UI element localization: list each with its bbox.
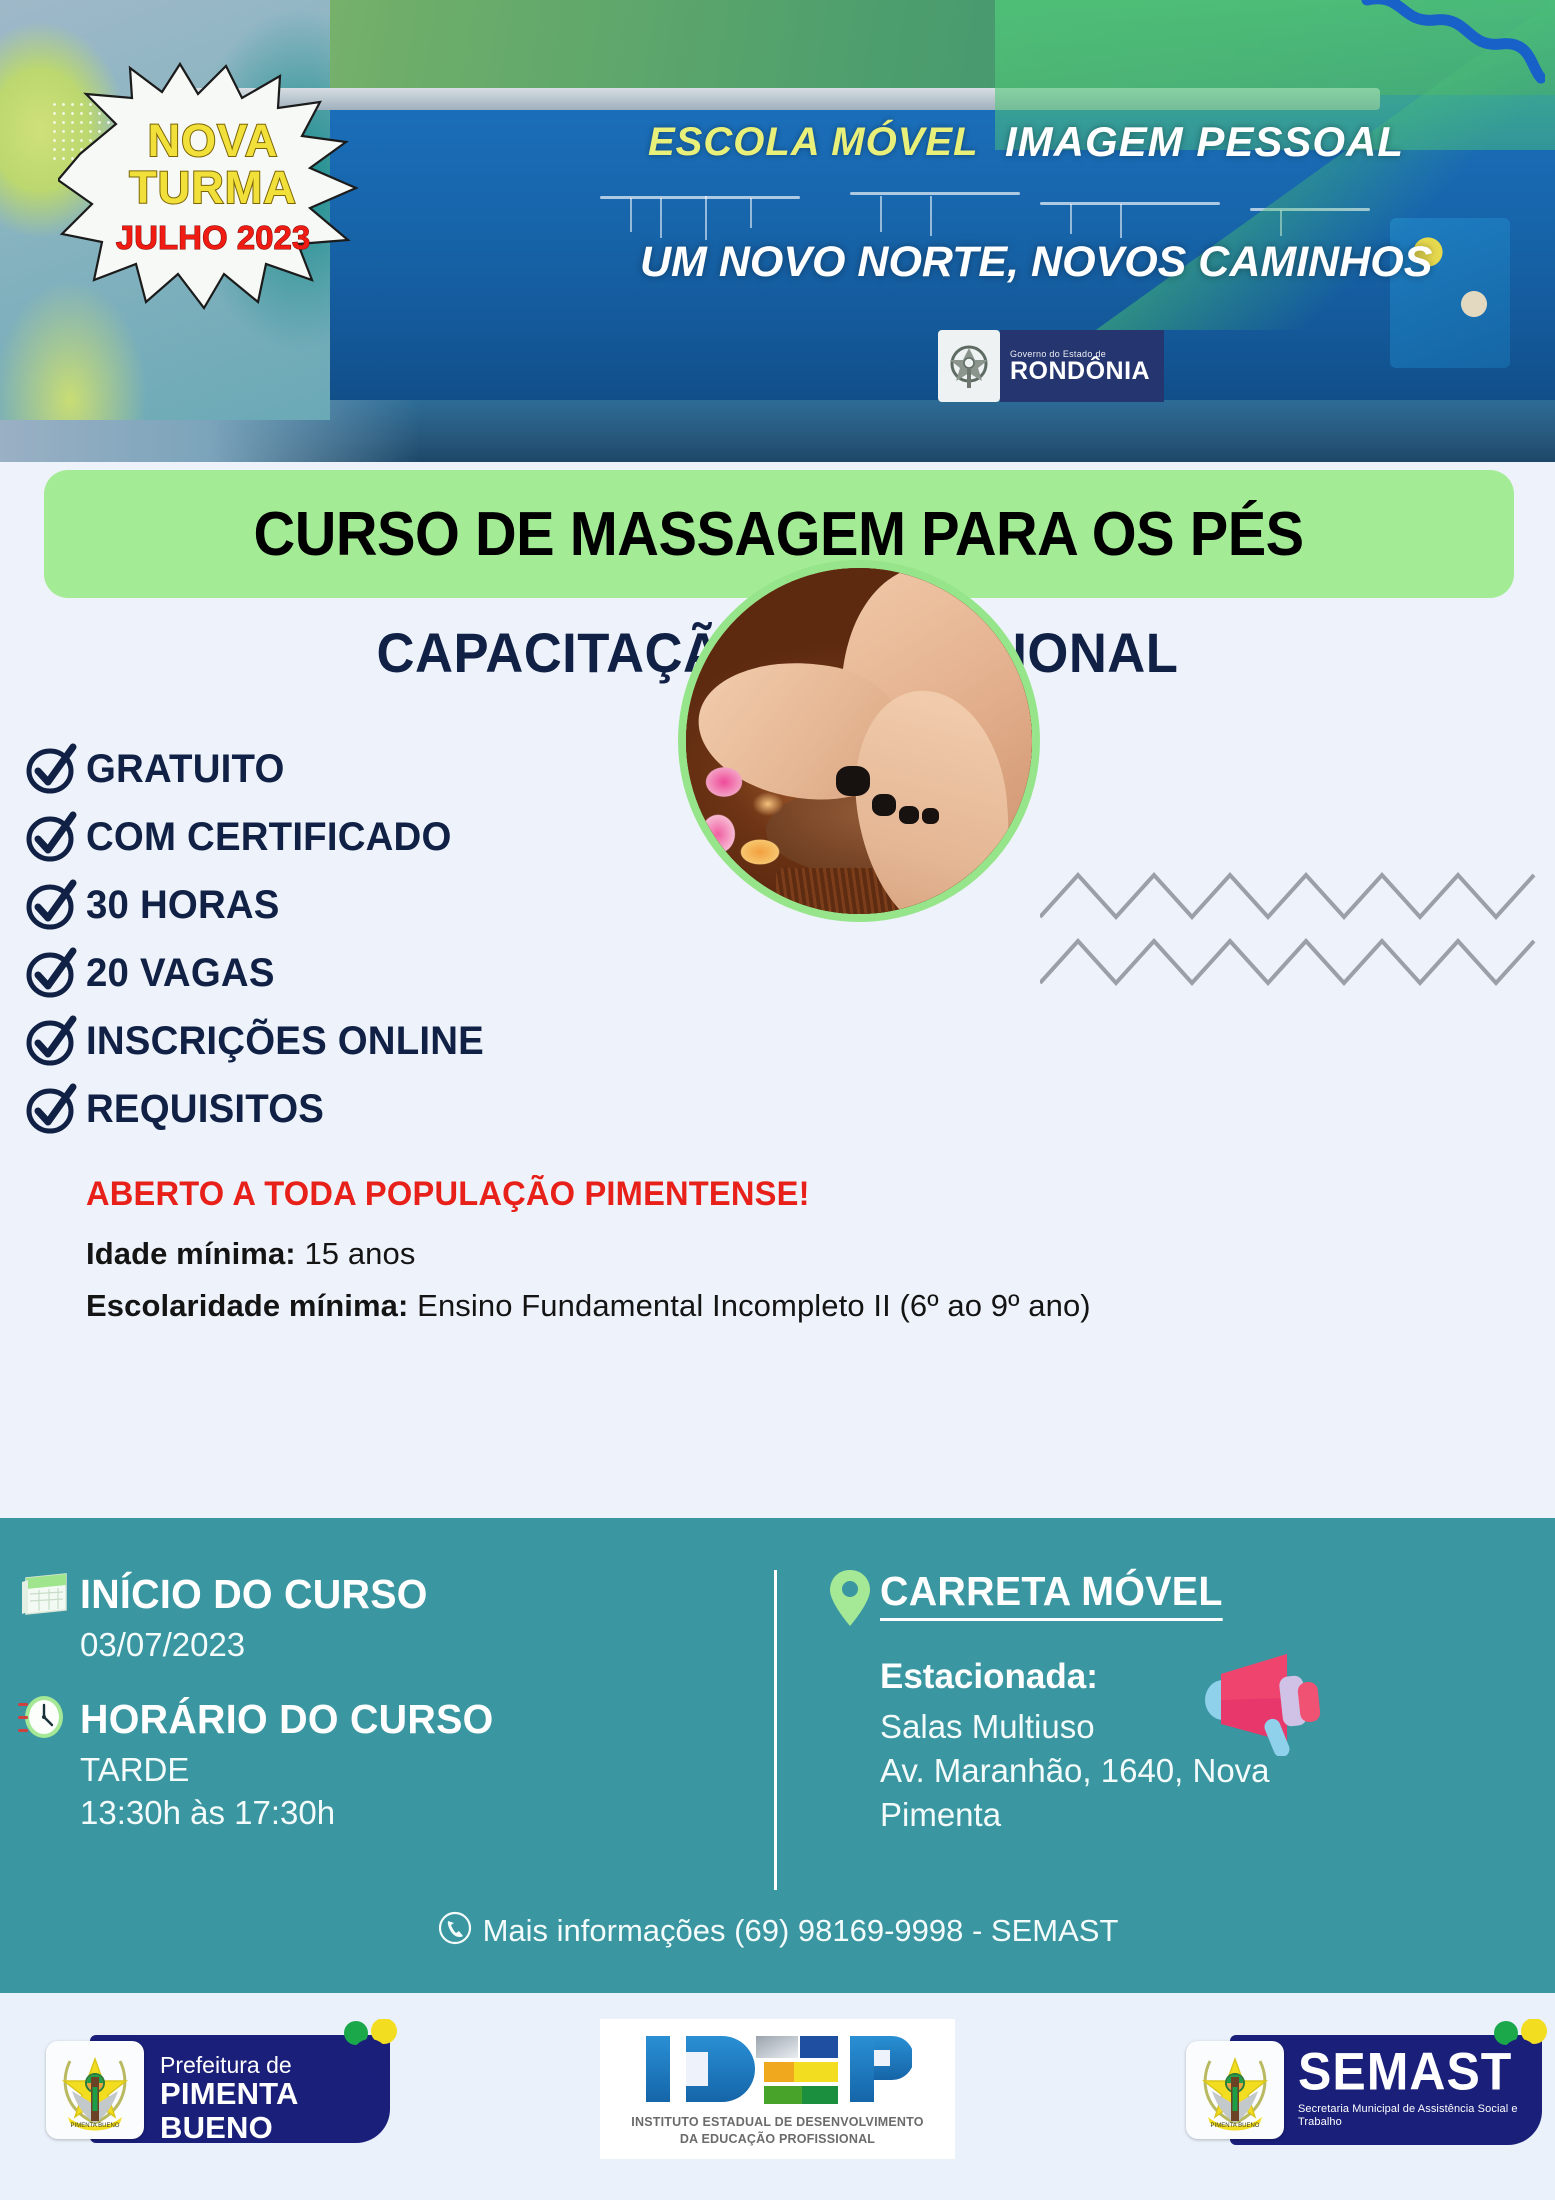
blue-wave-decoration — [1355, 0, 1545, 114]
footer-logos: PIMENTA BUENO Prefeitura de PIMENTA BUEN… — [0, 1993, 1555, 2200]
burst-line-nova: NOVA — [148, 118, 279, 165]
truck-imagem-pessoal-text: IMAGEM PESSOAL — [1005, 118, 1404, 166]
course-time-title: HORÁRIO DO CURSO — [80, 1696, 494, 1743]
semast-acronym: SEMAST — [1298, 2045, 1548, 2098]
feature-label: GRATUITO — [86, 747, 285, 792]
truck-slogan-text: UM NOVO NORTE, NOVOS CAMINHOS — [640, 238, 1432, 287]
truck-escola-movel-text: ESCOLA MÓVEL — [648, 120, 979, 165]
burst-text-container: NOVA TURMA JULHO 2023 — [58, 58, 368, 313]
feature-label: 20 VAGAS — [86, 951, 275, 996]
clock-icon — [18, 1693, 70, 1746]
feature-label: COM CERTIFICADO — [86, 815, 452, 860]
burst-line-turma: TURMA — [129, 165, 296, 212]
requirements-highlight: ABERTO A TODA POPULAÇÃO PIMENTENSE! — [86, 1175, 1478, 1214]
check-circle-icon — [24, 945, 86, 1001]
prefeitura-text: Prefeitura de PIMENTA BUENO — [160, 2053, 398, 2144]
toe-nail — [836, 766, 870, 796]
idep-wordmark-icon — [644, 2030, 912, 2108]
toe-nail — [922, 808, 939, 824]
minimum-schooling-value: Ensino Fundamental Incompleto II (6º ao … — [408, 1288, 1090, 1323]
feature-label: REQUISITOS — [86, 1087, 324, 1132]
burst-line-date: JULHO 2023 — [116, 216, 310, 261]
location-header: CARRETA MÓVEL — [828, 1568, 1388, 1635]
orchid-flower — [688, 748, 798, 878]
list-item: 20 VAGAS — [24, 939, 804, 1007]
vertical-divider — [774, 1570, 777, 1890]
rondonia-state-name: RONDÔNIA — [1010, 359, 1150, 384]
minimum-schooling-row: Escolaridade mínima: Ensino Fundamental … — [86, 1288, 1536, 1324]
svg-text:PIMENTA BUENO: PIMENTA BUENO — [1211, 2123, 1260, 2129]
map-pin-icon — [828, 1568, 872, 1635]
minimum-age-row: Idade mínima: 15 anos — [86, 1236, 1536, 1272]
phone-icon — [437, 1910, 473, 1951]
check-circle-icon — [24, 1013, 86, 1069]
zigzag-decoration — [1040, 855, 1540, 1015]
calendar-icon — [18, 1568, 70, 1621]
prefeitura-line1: Prefeitura de — [160, 2053, 398, 2077]
idep-full-name: INSTITUTO ESTADUAL DE DESENVOLVIMENTO DA… — [631, 2114, 923, 2148]
nova-turma-burst-badge: NOVA TURMA JULHO 2023 — [58, 58, 368, 313]
location-title: CARRETA MÓVEL — [880, 1568, 1223, 1621]
course-time-header: HORÁRIO DO CURSO — [18, 1693, 738, 1746]
feature-label: INSCRIÇÕES ONLINE — [86, 1019, 484, 1064]
foot-massage-photo — [678, 560, 1040, 922]
location-address-line3: Pimenta — [880, 1793, 1310, 1837]
toe-nail — [899, 806, 919, 824]
schedule-column: INÍCIO DO CURSO 03/07/2023 HORÁRIO DO CU… — [18, 1568, 738, 1835]
page-title: CURSO DE MASSAGEM PARA OS PÉS — [254, 499, 1304, 570]
check-circle-icon — [24, 809, 86, 865]
minimum-schooling-label: Escolaridade mínima: — [86, 1288, 408, 1323]
idep-line2: DA EDUCAÇÃO PROFISSIONAL — [680, 2132, 875, 2146]
course-info-band: INÍCIO DO CURSO 03/07/2023 HORÁRIO DO CU… — [0, 1518, 1555, 1993]
course-time-range: 13:30h às 17:30h — [80, 1791, 738, 1835]
minimum-age-label: Idade mínima: — [86, 1236, 296, 1271]
minimum-age-value: 15 anos — [296, 1236, 416, 1271]
requirements-details: ABERTO A TODA POPULAÇÃO PIMENTENSE! Idad… — [86, 1175, 1536, 1340]
pimenta-bueno-crest-icon: PIMENTA BUENO — [1186, 2041, 1284, 2139]
pimenta-bueno-crest-icon: PIMENTA BUENO — [46, 2041, 144, 2139]
rondonia-gov-label: Governo do Estado de — [1010, 349, 1150, 359]
prefeitura-line2: PIMENTA BUENO — [160, 2077, 398, 2144]
list-item: INSCRIÇÕES ONLINE — [24, 1007, 804, 1075]
contact-text: Mais informações (69) 98169-9998 - SEMAS… — [483, 1913, 1119, 1949]
rondonia-government-logo: Governo do Estado de RONDÔNIA — [938, 328, 1208, 404]
course-start-header: INÍCIO DO CURSO — [18, 1568, 738, 1621]
rondonia-crest-icon — [938, 330, 1000, 402]
idep-logo: INSTITUTO ESTADUAL DE DESENVOLVIMENTO DA… — [600, 2019, 955, 2159]
prefeitura-pimenta-bueno-logo: PIMENTA BUENO Prefeitura de PIMENTA BUEN… — [38, 2031, 398, 2149]
megaphone-icon — [1195, 1646, 1325, 1756]
semast-logo: PIMENTA BUENO SEMAST Secretaria Municipa… — [1178, 2031, 1548, 2151]
check-circle-icon — [24, 741, 86, 797]
svg-text:PIMENTA BUENO: PIMENTA BUENO — [71, 2123, 120, 2129]
feature-label: 30 HORAS — [86, 883, 280, 928]
idep-line1: INSTITUTO ESTADUAL DE DESENVOLVIMENTO — [631, 2115, 923, 2129]
semast-subtitle: Secretaria Municipal de Assistência Soci… — [1298, 2103, 1548, 2129]
course-start-date: 03/07/2023 — [80, 1623, 738, 1667]
check-circle-icon — [24, 877, 86, 933]
list-item: REQUISITOS — [24, 1075, 804, 1143]
course-time-period: TARDE — [80, 1748, 738, 1792]
rondonia-logo-text: Governo do Estado de RONDÔNIA — [1000, 330, 1164, 402]
semast-text: SEMAST Secretaria Municipal de Assistênc… — [1298, 2045, 1548, 2129]
contact-row: Mais informações (69) 98169-9998 - SEMAS… — [0, 1910, 1555, 1951]
check-circle-icon — [24, 1081, 86, 1137]
toe-nail — [872, 794, 896, 816]
course-start-title: INÍCIO DO CURSO — [80, 1571, 428, 1618]
